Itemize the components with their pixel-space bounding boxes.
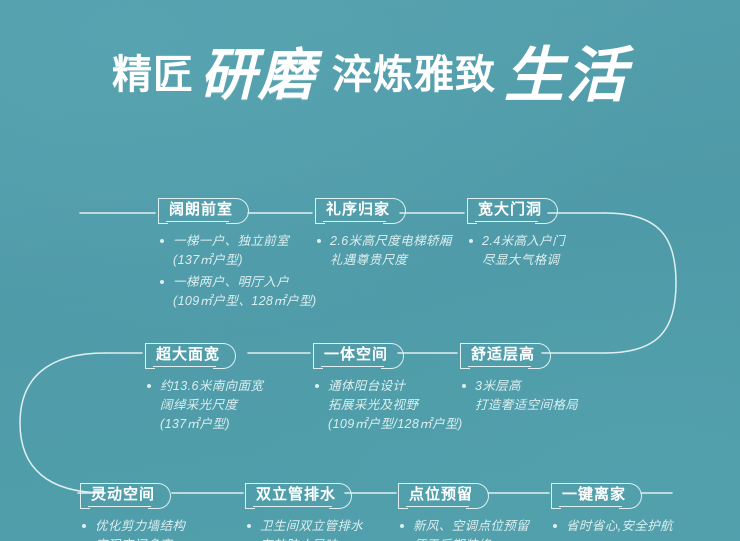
card-title-chip: 灵动空间 xyxy=(80,483,171,507)
card-bullet-list: 2.6米高尺度电梯轿厢 礼遇尊贵尺度 xyxy=(315,232,452,270)
chip-top-rule xyxy=(253,483,332,484)
chip-bottom-rule xyxy=(475,221,538,222)
bullet-sub-text: 便于后期装修 xyxy=(413,536,529,541)
list-item: 3米层高 打造奢适空间格局 xyxy=(460,377,578,415)
connector-uturn-left xyxy=(20,353,105,493)
bullet-dot-icon xyxy=(317,239,321,243)
card-title-chip: 礼序归家 xyxy=(315,198,406,222)
list-item: 卫生间双立管排水 有效防止异味 xyxy=(245,517,363,541)
card-title-text: 宽大门洞 xyxy=(478,201,542,218)
card-title-chip: 超大面宽 xyxy=(145,343,236,367)
bullet-dot-icon xyxy=(400,524,404,528)
chip-bottom-rule xyxy=(468,366,531,367)
feature-card-yijianlijia[interactable]: 一键离家 省时省心,安全护航 xyxy=(551,483,673,539)
chip-top-rule xyxy=(88,483,151,484)
bullet-main-text: 卫生间双立管排水 xyxy=(260,517,363,536)
feature-card-kuandamendong[interactable]: 宽大门洞 2.4米高入户门 尽显大气格调 xyxy=(467,198,565,273)
feature-card-lixuguijia[interactable]: 礼序归家 2.6米高尺度电梯轿厢 礼遇尊贵尺度 xyxy=(315,198,452,273)
card-title-chip: 一键离家 xyxy=(551,483,642,507)
card-bullet-list: 一梯一户、独立前室 (137㎡户型) 一梯两户、明厅入户 (109㎡户型、128… xyxy=(158,232,317,311)
title-segment-4: 生活 xyxy=(504,46,628,106)
bullet-dot-icon xyxy=(462,384,466,388)
bullet-dot-icon xyxy=(160,239,164,243)
poster-canvas: 精匠研磨淬炼雅致生活 xyxy=(0,0,740,541)
bullet-main-text: 2.4米高入户门 xyxy=(482,232,565,251)
card-title-text: 超大面宽 xyxy=(156,346,220,363)
card-title-chip: 阔朗前室 xyxy=(158,198,249,222)
chip-bottom-rule xyxy=(323,221,386,222)
card-title-text: 礼序归家 xyxy=(326,201,390,218)
bullet-main-text: 一梯一户、独立前室 xyxy=(173,232,317,251)
bullet-main-text: 一梯两户、明厅入户 xyxy=(173,273,317,292)
chip-bottom-rule xyxy=(153,366,216,367)
chip-top-rule xyxy=(323,198,386,199)
card-title-text: 舒适层高 xyxy=(471,346,535,363)
card-title-text: 灵动空间 xyxy=(91,486,155,503)
connector-uturn-right xyxy=(605,213,676,353)
card-title-text: 一键离家 xyxy=(562,486,626,503)
bullet-sub-text: 打造奢适空间格局 xyxy=(475,396,578,415)
card-title-text: 一体空间 xyxy=(324,346,388,363)
bullet-main-text: 新风、空调点位预留 xyxy=(413,517,529,536)
bullet-sub2-text: (109㎡户型/128㎡户型) xyxy=(328,415,463,434)
list-item: 通体阳台设计 拓展采光及视野 (109㎡户型/128㎡户型) xyxy=(313,377,463,434)
chip-top-rule xyxy=(475,198,538,199)
list-item: 新风、空调点位预留 便于后期装修 xyxy=(398,517,529,541)
card-title-chip: 一体空间 xyxy=(313,343,404,367)
list-item: 约13.6米南向面宽 阔绰采光尺度 (137㎡户型) xyxy=(145,377,263,434)
chip-bottom-rule xyxy=(253,506,332,507)
chip-top-rule xyxy=(468,343,531,344)
chip-bottom-rule xyxy=(321,366,384,367)
card-bullet-list: 省时省心,安全护航 xyxy=(551,517,673,536)
chip-bottom-rule xyxy=(559,506,622,507)
bullet-main-text: 通体阳台设计 xyxy=(328,377,463,396)
chip-top-rule xyxy=(559,483,622,484)
bullet-sub-text: 阔绰采光尺度 xyxy=(160,396,263,415)
bullet-main-text: 3米层高 xyxy=(475,377,578,396)
bullet-dot-icon xyxy=(160,280,164,284)
page-title: 精匠研磨淬炼雅致生活 xyxy=(0,42,740,102)
list-item: 一梯两户、明厅入户 (109㎡户型、128㎡户型) xyxy=(158,273,317,311)
card-bullet-list: 通体阳台设计 拓展采光及视野 (109㎡户型/128㎡户型) xyxy=(313,377,463,434)
title-segment-1: 精匠 xyxy=(112,55,194,95)
chip-top-rule xyxy=(153,343,216,344)
chip-bottom-rule xyxy=(88,506,151,507)
card-title-text: 阔朗前室 xyxy=(169,201,233,218)
bullet-main-text: 约13.6米南向面宽 xyxy=(160,377,263,396)
bullet-sub-text: (137㎡户型) xyxy=(173,251,317,270)
chip-top-rule xyxy=(166,198,229,199)
card-title-chip: 点位预留 xyxy=(398,483,489,507)
bullet-sub-text: 有效防止异味 xyxy=(260,536,363,541)
card-bullet-list: 2.4米高入户门 尽显大气格调 xyxy=(467,232,565,270)
list-item: 2.4米高入户门 尽显大气格调 xyxy=(467,232,565,270)
bullet-main-text: 省时省心,安全护航 xyxy=(566,517,673,536)
card-title-chip: 宽大门洞 xyxy=(467,198,558,222)
feature-card-yitikongjian[interactable]: 一体空间 通体阳台设计 拓展采光及视野 (109㎡户型/128㎡户型) xyxy=(313,343,463,437)
feature-card-chaodamiankuan[interactable]: 超大面宽 约13.6米南向面宽 阔绰采光尺度 (137㎡户型) xyxy=(145,343,263,437)
bullet-sub-text: 尽显大气格调 xyxy=(482,251,565,270)
card-title-text: 点位预留 xyxy=(409,486,473,503)
card-title-text: 双立管排水 xyxy=(256,486,336,503)
feature-card-lingdongkongjian[interactable]: 灵动空间 优化剪力墙结构 实现空间多变 xyxy=(80,483,185,541)
feature-card-kuolangqianshi[interactable]: 阔朗前室 一梯一户、独立前室 (137㎡户型) 一梯两户、明厅入户 (109㎡户… xyxy=(158,198,317,314)
bullet-sub2-text: (137㎡户型) xyxy=(160,415,263,434)
title-segment-3: 淬炼雅致 xyxy=(332,55,496,95)
feature-card-shuanglideguanpaishui[interactable]: 双立管排水 卫生间双立管排水 有效防止异味 xyxy=(245,483,363,541)
list-item: 2.6米高尺度电梯轿厢 礼遇尊贵尺度 xyxy=(315,232,452,270)
bullet-sub-text: (109㎡户型、128㎡户型) xyxy=(173,292,317,311)
bullet-dot-icon xyxy=(469,239,473,243)
card-title-chip: 双立管排水 xyxy=(245,483,352,507)
card-bullet-list: 3米层高 打造奢适空间格局 xyxy=(460,377,578,415)
bullet-dot-icon xyxy=(82,524,86,528)
bullet-main-text: 优化剪力墙结构 xyxy=(95,517,185,536)
bullet-dot-icon xyxy=(553,524,557,528)
card-bullet-list: 优化剪力墙结构 实现空间多变 xyxy=(80,517,185,541)
card-title-chip: 舒适层高 xyxy=(460,343,551,367)
card-bullet-list: 新风、空调点位预留 便于后期装修 xyxy=(398,517,529,541)
chip-bottom-rule xyxy=(166,221,229,222)
list-item: 一梯一户、独立前室 (137㎡户型) xyxy=(158,232,317,270)
chip-bottom-rule xyxy=(406,506,469,507)
bullet-dot-icon xyxy=(147,384,151,388)
title-segment-2: 研磨 xyxy=(200,47,316,103)
bullet-dot-icon xyxy=(315,384,319,388)
chip-top-rule xyxy=(406,483,469,484)
bullet-main-text: 2.6米高尺度电梯轿厢 xyxy=(330,232,452,251)
bullet-sub-text: 拓展采光及视野 xyxy=(328,396,463,415)
chip-top-rule xyxy=(321,343,384,344)
bullet-sub-text: 实现空间多变 xyxy=(95,536,185,541)
list-item: 省时省心,安全护航 xyxy=(551,517,673,536)
feature-card-shushicenggao[interactable]: 舒适层高 3米层高 打造奢适空间格局 xyxy=(460,343,578,418)
bullet-sub-text: 礼遇尊贵尺度 xyxy=(330,251,452,270)
bullet-dot-icon xyxy=(247,524,251,528)
list-item: 优化剪力墙结构 实现空间多变 xyxy=(80,517,185,541)
card-bullet-list: 卫生间双立管排水 有效防止异味 xyxy=(245,517,363,541)
feature-card-dianweiyuliu[interactable]: 点位预留 新风、空调点位预留 便于后期装修 xyxy=(398,483,529,541)
card-bullet-list: 约13.6米南向面宽 阔绰采光尺度 (137㎡户型) xyxy=(145,377,263,434)
